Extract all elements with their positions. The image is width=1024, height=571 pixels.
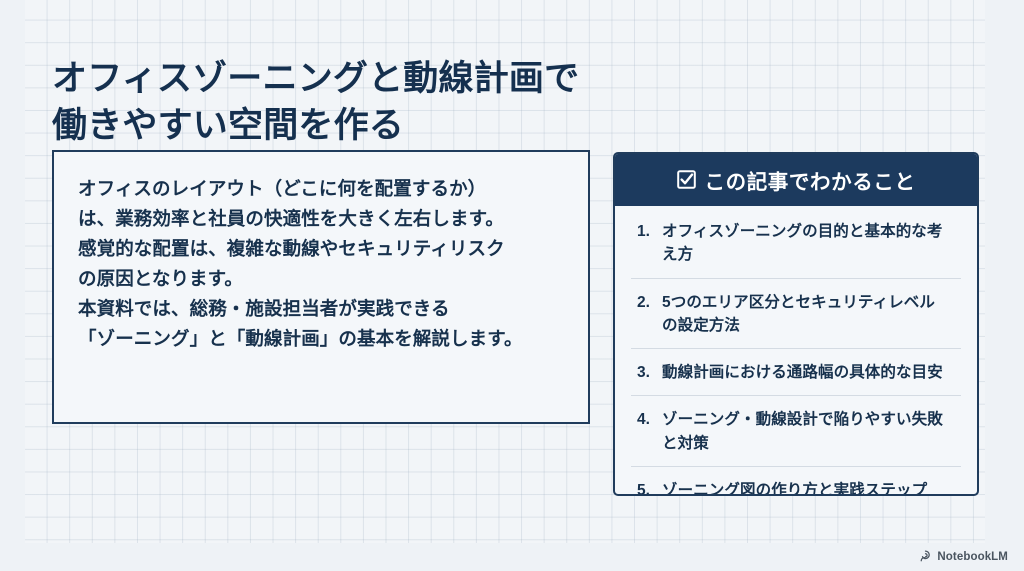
- checklist-header: この記事でわかること: [615, 154, 977, 206]
- intro-paragraph-1: オフィスのレイアウト（どこに何を配置するか） は、業務効率と社員の快適性を大きく…: [78, 174, 564, 294]
- notebooklm-label: NotebookLM: [937, 551, 1008, 563]
- checklist-items: 1. オフィスゾーニングの目的と基本的な考え方 2. 5つのエリア区分とセキュリ…: [615, 206, 977, 496]
- list-item-number: 5.: [637, 479, 653, 496]
- page-title: オフィスゾーニングと動線計画で 働きやすい空間を作る: [52, 56, 692, 149]
- list-item[interactable]: 5. ゾーニング図の作り方と実践ステップ: [631, 466, 961, 496]
- notebooklm-logo-icon: [919, 550, 932, 563]
- checkbox-checked-icon: [677, 170, 696, 189]
- checklist-panel: この記事でわかること 1. オフィスゾーニングの目的と基本的な考え方 2. 5つ…: [613, 152, 979, 496]
- list-item[interactable]: 3. 動線計画における通路幅の具体的な目安: [631, 348, 961, 395]
- list-item-label: オフィスゾーニングの目的と基本的な考え方: [662, 220, 957, 267]
- list-item-label: 動線計画における通路幅の具体的な目安: [662, 361, 943, 384]
- list-item[interactable]: 2. 5つのエリア区分とセキュリティレベル の設定方法: [631, 278, 961, 349]
- slide-canvas: オフィスゾーニングと動線計画で 働きやすい空間を作る オフィスのレイアウト（どこ…: [0, 0, 1024, 571]
- list-item-label: ゾーニング図の作り方と実践ステップ: [662, 479, 927, 496]
- list-item-label: ゾーニング・動線設計で陥りやすい失敗 と対策: [662, 408, 943, 455]
- intro-text-box: オフィスのレイアウト（どこに何を配置するか） は、業務効率と社員の快適性を大きく…: [52, 150, 590, 424]
- list-item-number: 4.: [637, 408, 653, 431]
- list-item-number: 3.: [637, 361, 653, 384]
- list-item-label: 5つのエリア区分とセキュリティレベル の設定方法: [662, 291, 935, 338]
- list-item[interactable]: 4. ゾーニング・動線設計で陥りやすい失敗 と対策: [631, 395, 961, 466]
- list-item[interactable]: 1. オフィスゾーニングの目的と基本的な考え方: [631, 206, 961, 278]
- list-item-number: 2.: [637, 291, 653, 314]
- checklist-title: この記事でわかること: [705, 165, 916, 195]
- list-item-number: 1.: [637, 220, 653, 243]
- notebooklm-watermark: NotebookLM: [919, 550, 1008, 563]
- intro-paragraph-2: 本資料では、総務・施設担当者が実践できる 「ゾーニング」と「動線計画」の基本を解…: [78, 294, 564, 354]
